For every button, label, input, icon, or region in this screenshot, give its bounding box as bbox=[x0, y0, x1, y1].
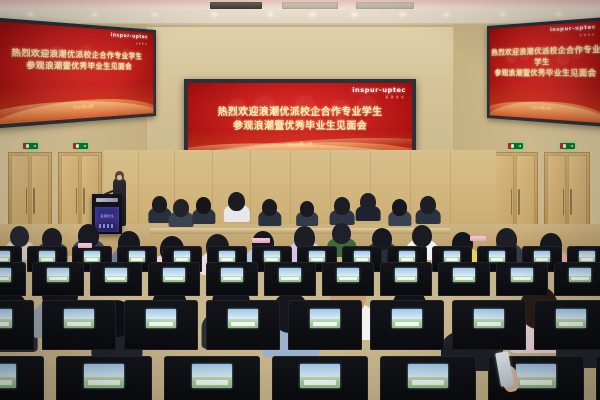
display-sky bbox=[408, 364, 448, 377]
display-caption bbox=[176, 258, 189, 260]
auditorium-seat bbox=[32, 262, 84, 296]
auditorium-seat bbox=[0, 262, 26, 296]
seat-back-display[interactable] bbox=[105, 268, 127, 282]
auditorium-seat bbox=[164, 356, 260, 400]
auditorium-seat bbox=[272, 356, 368, 400]
audience-head bbox=[262, 199, 277, 216]
seat-back-display[interactable] bbox=[0, 251, 10, 262]
lectern-panel-text: 浪潮优派 bbox=[95, 214, 119, 218]
seat-back-display[interactable] bbox=[174, 251, 190, 262]
ceiling-vent bbox=[282, 2, 338, 9]
seat-back-display[interactable] bbox=[84, 251, 100, 262]
door-leaf[interactable] bbox=[547, 155, 566, 235]
display-sky bbox=[0, 309, 12, 319]
auditorium-seat bbox=[534, 300, 600, 350]
exit-arrow-icon bbox=[570, 145, 573, 147]
display-caption bbox=[395, 322, 419, 326]
display-caption bbox=[477, 322, 501, 326]
seat-back-display[interactable] bbox=[310, 309, 340, 328]
display-sky bbox=[395, 268, 417, 276]
ceiling-downlight bbox=[400, 13, 405, 16]
door-leaf[interactable] bbox=[495, 155, 514, 235]
display-caption bbox=[0, 322, 9, 326]
lectern-logo bbox=[96, 198, 118, 202]
banner-headline: 热烈欢迎浪潮优派校企合作专业学生 参观浪潮暨优秀毕业生见面会 bbox=[0, 47, 153, 73]
inspur-uptec-logo: inspur-uptec 浪潮优派 bbox=[352, 87, 406, 99]
headline-line-1: 热烈欢迎浪潮优派校企合作专业学生 bbox=[490, 45, 600, 69]
seat-back-display[interactable] bbox=[39, 251, 55, 262]
auditorium-seat bbox=[452, 300, 526, 350]
ceiling-vent bbox=[356, 2, 414, 9]
brand-subtitle: 浪潮优派 bbox=[111, 41, 148, 45]
door-leaf[interactable] bbox=[61, 155, 79, 233]
display-sky bbox=[337, 268, 359, 276]
ceiling-downlight bbox=[352, 13, 357, 16]
audience-head bbox=[173, 199, 189, 217]
auditorium-seat bbox=[264, 262, 316, 296]
auditorium-seat bbox=[206, 300, 280, 350]
headline-line-2: 参观浪潮暨优秀毕业生见面会 bbox=[490, 68, 600, 80]
auditorium-seat bbox=[148, 262, 200, 296]
display-caption bbox=[223, 277, 241, 280]
banner-headline: 热烈欢迎浪潮优派校企合作专业学生 参观浪潮暨优秀毕业生见面会 bbox=[188, 106, 412, 134]
audience-head bbox=[332, 223, 351, 244]
ceiling-downlight bbox=[268, 13, 273, 16]
display-caption bbox=[313, 322, 337, 326]
door-handle-icon[interactable] bbox=[563, 189, 565, 215]
display-caption bbox=[107, 277, 125, 280]
audience-head bbox=[360, 193, 376, 211]
display-caption bbox=[446, 258, 459, 260]
display-sky bbox=[47, 268, 69, 276]
display-caption bbox=[67, 322, 91, 326]
display-caption bbox=[455, 277, 473, 280]
banner-date: 2019年4月 bbox=[0, 101, 153, 114]
door-handle-icon[interactable] bbox=[511, 189, 513, 215]
auditorium-seat bbox=[380, 356, 476, 400]
audience-head bbox=[300, 201, 314, 217]
door-leaf[interactable] bbox=[11, 155, 29, 233]
audience-head bbox=[196, 197, 211, 214]
auditorium-seat bbox=[288, 300, 362, 350]
display-sky bbox=[279, 268, 301, 276]
display-caption bbox=[86, 258, 99, 260]
display-sky bbox=[474, 309, 504, 319]
banner-bottom-glow bbox=[490, 82, 600, 123]
exit-sign-icon bbox=[23, 143, 38, 149]
audience-head bbox=[392, 199, 407, 216]
display-caption bbox=[520, 380, 552, 385]
running-man-icon bbox=[563, 144, 566, 148]
seat-back-display[interactable] bbox=[264, 251, 280, 262]
ceiling-downlight bbox=[310, 13, 315, 16]
display-caption bbox=[0, 380, 12, 385]
display-sky bbox=[192, 364, 232, 377]
display-caption bbox=[304, 380, 336, 385]
auditorium-seat bbox=[370, 300, 444, 350]
ceiling-downlight bbox=[212, 13, 217, 16]
display-sky bbox=[84, 364, 124, 377]
door-leaf[interactable] bbox=[516, 155, 535, 235]
display-caption bbox=[41, 258, 54, 260]
seat-back-display[interactable] bbox=[337, 268, 359, 282]
seat-back-display[interactable] bbox=[453, 268, 475, 282]
display-caption bbox=[491, 258, 504, 260]
name-placard bbox=[470, 236, 486, 241]
display-sky bbox=[392, 309, 422, 319]
banner-headline: 热烈欢迎浪潮优派校企合作专业学生 参观浪潮暨优秀毕业生见面会 bbox=[490, 45, 600, 81]
auditorium-seat bbox=[322, 262, 374, 296]
seat-back-display[interactable] bbox=[354, 251, 370, 262]
seat-back-display[interactable] bbox=[395, 268, 417, 282]
display-caption bbox=[412, 380, 444, 385]
display-caption bbox=[266, 258, 279, 260]
display-caption bbox=[0, 258, 8, 260]
door-handle-icon[interactable] bbox=[570, 189, 572, 215]
auditorium-seat bbox=[56, 356, 152, 400]
display-sky bbox=[300, 364, 340, 377]
seat-back-display[interactable] bbox=[64, 309, 94, 328]
lectern-panel-bars bbox=[99, 224, 115, 228]
seat-back-display[interactable] bbox=[444, 251, 460, 262]
seat-back-display[interactable] bbox=[300, 364, 340, 388]
seat-back-display[interactable] bbox=[0, 268, 11, 282]
seat-back-display[interactable] bbox=[474, 309, 504, 328]
seat-back-display[interactable] bbox=[228, 309, 258, 328]
auditorium-seat bbox=[596, 356, 600, 400]
lectern-front-panel: 浪潮优派 bbox=[95, 207, 119, 232]
brand-subtitle: 浪潮优派 bbox=[352, 96, 406, 99]
brand-wordmark: inspur-uptec bbox=[550, 26, 596, 34]
audience-head bbox=[334, 197, 350, 215]
exit-sign-icon bbox=[560, 143, 575, 149]
ceiling-downlight bbox=[556, 13, 561, 16]
display-sky bbox=[0, 268, 11, 276]
display-sky bbox=[105, 268, 127, 276]
seat-back-display[interactable] bbox=[279, 268, 301, 282]
ceiling-downlight bbox=[444, 13, 449, 16]
exit-arrow-icon bbox=[33, 145, 36, 147]
audience-head bbox=[152, 196, 167, 213]
display-caption bbox=[49, 277, 67, 280]
exit-sign-icon bbox=[73, 143, 88, 149]
door-handle-icon[interactable] bbox=[33, 188, 35, 214]
seat-back-display[interactable] bbox=[392, 309, 422, 328]
speaker-face bbox=[117, 175, 122, 180]
seat-back-display[interactable] bbox=[408, 364, 448, 388]
brand-wordmark: inspur-uptec bbox=[111, 34, 148, 41]
seat-back-display[interactable] bbox=[556, 309, 586, 328]
display-caption bbox=[231, 322, 255, 326]
display-caption bbox=[0, 277, 9, 280]
auditorium-seat bbox=[206, 262, 258, 296]
display-sky bbox=[569, 268, 591, 276]
name-placard bbox=[78, 243, 92, 248]
display-caption bbox=[221, 258, 234, 260]
running-man-icon bbox=[26, 144, 29, 148]
door-handle-icon[interactable] bbox=[76, 188, 78, 214]
brand-wordmark: inspur-uptec bbox=[352, 87, 406, 94]
ceiling-downlight bbox=[92, 13, 97, 16]
display-caption bbox=[165, 277, 183, 280]
display-caption bbox=[571, 277, 589, 280]
ceiling-downlight bbox=[152, 13, 157, 16]
ceiling-downlight bbox=[28, 13, 33, 16]
display-sky bbox=[511, 268, 533, 276]
brand-subtitle: 浪潮优派 bbox=[550, 34, 596, 39]
auditorium-seat bbox=[124, 300, 198, 350]
headline-line-2: 参观浪潮暨优秀毕业生见面会 bbox=[188, 120, 412, 134]
seat-back-display[interactable] bbox=[84, 364, 124, 388]
auditorium-seat bbox=[0, 356, 44, 400]
display-sky bbox=[0, 364, 16, 377]
door-handle-icon[interactable] bbox=[26, 188, 28, 214]
display-sky bbox=[146, 309, 176, 319]
display-sky bbox=[163, 268, 185, 276]
display-sky bbox=[228, 309, 258, 319]
seat-back-display[interactable] bbox=[489, 251, 505, 262]
seat-back-display[interactable] bbox=[146, 309, 176, 328]
auditorium-photo: inspur-uptec 浪潮优派 热烈欢迎浪潮优派校企合作专业学生 参观浪潮暨… bbox=[0, 0, 600, 400]
name-placard bbox=[252, 238, 270, 243]
seat-back-display[interactable] bbox=[0, 309, 12, 328]
headline-line-2: 参观浪潮暨优秀毕业生见面会 bbox=[0, 60, 153, 73]
running-man-icon bbox=[511, 144, 514, 148]
seat-back-display[interactable] bbox=[516, 364, 556, 388]
inspur-uptec-logo: inspur-uptec 浪潮优派 bbox=[111, 34, 148, 45]
door-handle-icon[interactable] bbox=[518, 189, 520, 215]
auditorium-seat bbox=[438, 262, 490, 296]
seat-back-display[interactable] bbox=[511, 268, 533, 282]
display-sky bbox=[556, 309, 586, 319]
exit-sign-icon bbox=[508, 143, 523, 149]
ceiling-downlight bbox=[500, 13, 505, 16]
display-caption bbox=[131, 258, 144, 260]
inspur-uptec-logo: inspur-uptec 浪潮优派 bbox=[550, 26, 596, 38]
display-caption bbox=[401, 258, 414, 260]
right-led-screen: inspur-uptec 浪潮优派 热烈欢迎浪潮优派校企合作专业学生 参观浪潮暨… bbox=[487, 17, 600, 127]
auditorium-seat bbox=[42, 300, 116, 350]
seat-back-display[interactable] bbox=[309, 251, 325, 262]
seat-back-display[interactable] bbox=[221, 268, 243, 282]
auditorium-seat bbox=[554, 262, 600, 296]
display-sky bbox=[453, 268, 475, 276]
display-caption bbox=[356, 258, 369, 260]
display-caption bbox=[339, 277, 357, 280]
display-sky bbox=[221, 268, 243, 276]
display-caption bbox=[536, 258, 549, 260]
door-handle-icon[interactable] bbox=[83, 188, 85, 214]
display-caption bbox=[311, 258, 324, 260]
seat-back-display[interactable] bbox=[534, 251, 550, 262]
banner-date: 2019年4月 bbox=[188, 142, 412, 148]
seat-back-display[interactable] bbox=[569, 268, 591, 282]
seat-back-display[interactable] bbox=[0, 364, 16, 388]
display-caption bbox=[581, 258, 594, 260]
exit-arrow-icon bbox=[83, 145, 86, 147]
display-caption bbox=[149, 322, 173, 326]
seat-back-display[interactable] bbox=[47, 268, 69, 282]
audience-head bbox=[420, 196, 436, 214]
display-caption bbox=[196, 380, 228, 385]
audience-head bbox=[412, 225, 432, 247]
display-sky bbox=[64, 309, 94, 319]
headline-line-1: 热烈欢迎浪潮优派校企合作专业学生 bbox=[188, 106, 412, 120]
left-led-screen: inspur-uptec 浪潮优派 热烈欢迎浪潮优派校企合作专业学生 参观浪潮暨… bbox=[0, 17, 156, 129]
running-man-icon bbox=[76, 144, 79, 148]
display-caption bbox=[281, 277, 299, 280]
exit-arrow-icon bbox=[518, 145, 521, 147]
seat-back-display[interactable] bbox=[129, 251, 145, 262]
seat-back-display[interactable] bbox=[399, 251, 415, 262]
audience-head bbox=[10, 226, 29, 247]
display-caption bbox=[513, 277, 531, 280]
seat-back-display[interactable] bbox=[219, 251, 235, 262]
ceiling-vent bbox=[210, 2, 262, 9]
banner-date: 2019年4月 bbox=[490, 103, 600, 113]
audience-head bbox=[228, 192, 245, 211]
display-caption bbox=[559, 322, 583, 326]
seat-back-display[interactable] bbox=[192, 364, 232, 388]
display-caption bbox=[88, 380, 120, 385]
auditorium-seat bbox=[0, 300, 34, 350]
display-caption bbox=[397, 277, 415, 280]
display-sky bbox=[516, 364, 556, 377]
auditorium-seat bbox=[90, 262, 142, 296]
seat-back-display[interactable] bbox=[579, 251, 595, 262]
seat-back-display[interactable] bbox=[163, 268, 185, 282]
display-sky bbox=[310, 309, 340, 319]
auditorium-seat bbox=[496, 262, 548, 296]
door-leaf[interactable] bbox=[568, 155, 587, 235]
auditorium-seat bbox=[380, 262, 432, 296]
door-leaf[interactable] bbox=[31, 155, 49, 233]
